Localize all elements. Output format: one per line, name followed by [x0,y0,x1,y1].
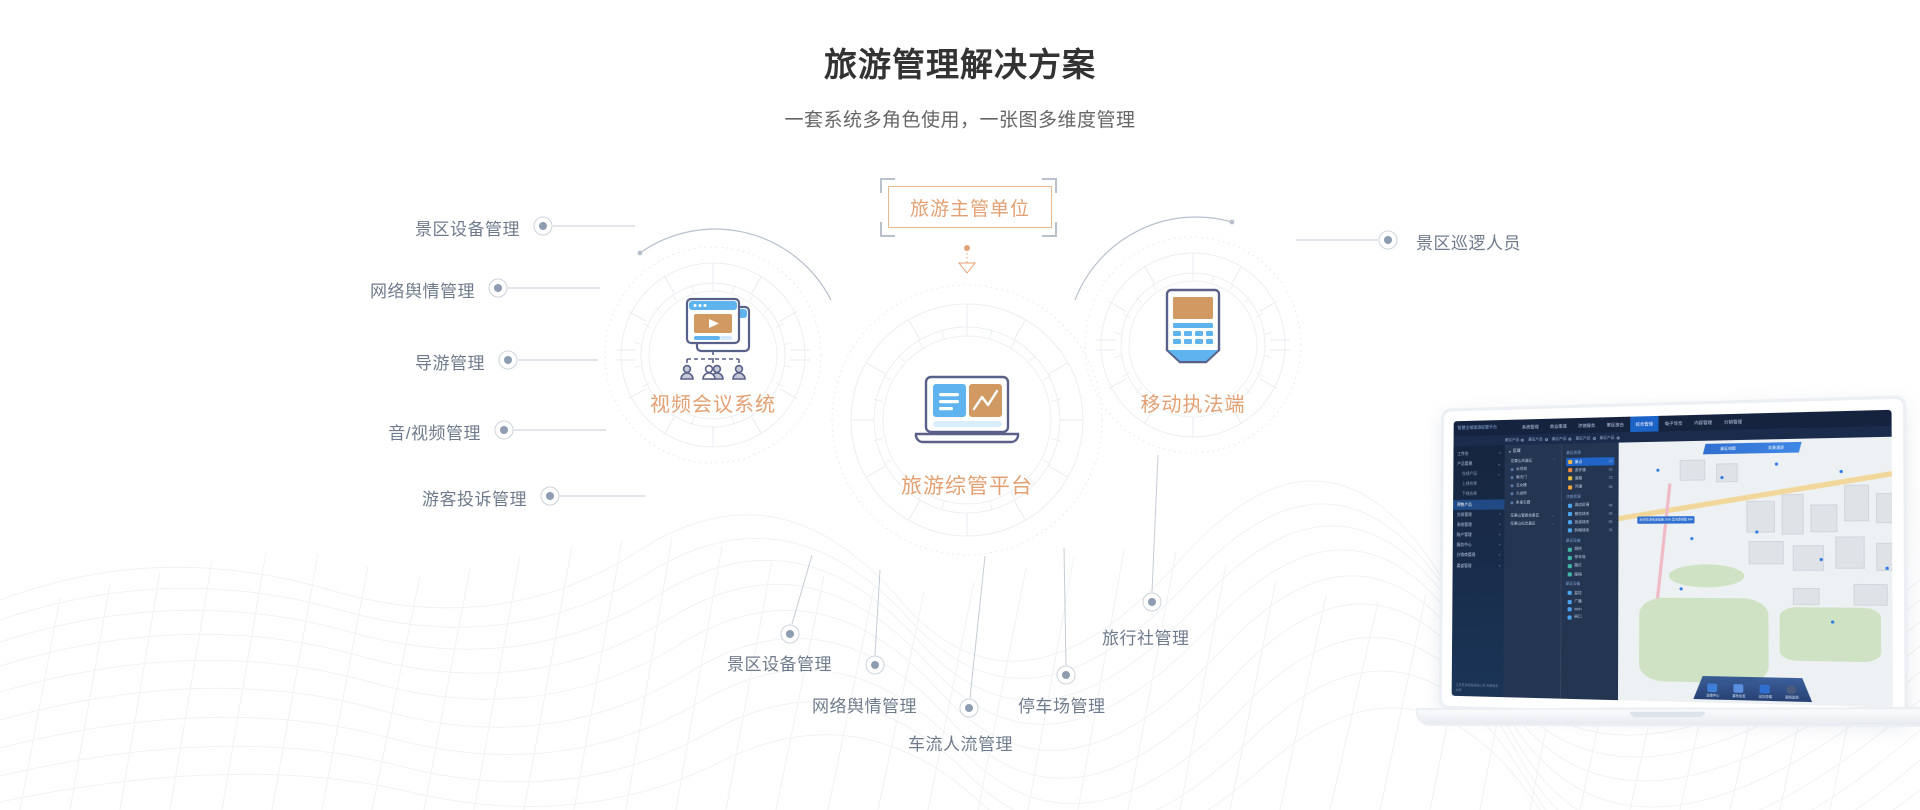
chevron-down-icon: ⌄ [1498,461,1501,466]
laptop-screen: 智慧全域旅游综管平台 系统管理 商业渠道 涉旅服务 景区旅台 综合管理 电子导览… [1452,410,1893,708]
map-building [1876,493,1893,524]
dashboard-menu-item[interactable]: 电子导览 [1659,415,1687,431]
map-pin[interactable] [1831,620,1834,623]
dashboard-body: 工作台› 产品管理⌄ 在线产品⌄ 上线名单 下线名单 预售产品 交易管理› 系统… [1452,437,1893,708]
tree-node[interactable]: 花果山纪念景区⌄ [1508,520,1556,529]
video-window-icon [681,299,749,379]
sidebar-footer: 江苏景通控股有限公司 专属技术支持 [1452,679,1504,698]
layer-item[interactable]: 停车场 [1566,554,1615,562]
map-toolbar-item[interactable]: 实景漫游 [1768,445,1784,451]
dashboard-tab[interactable]: 景区产品 [1576,435,1596,441]
layer-color-swatch [1568,504,1572,508]
map-building [1749,541,1784,564]
close-icon[interactable] [1521,438,1524,441]
handheld-device-icon [1167,290,1219,362]
layer-color-swatch [1568,607,1572,611]
left-node-label-2: 网络舆情管理 [155,277,475,302]
dashboard-menu-item[interactable]: 涉旅服务 [1573,417,1601,433]
layer-item[interactable]: 广播 [1566,597,1615,606]
sidebar-item-label: 上线名单 [1462,482,1477,487]
bottom-node-label-3: 车流人流管理 [908,730,1013,755]
bullet-icon [1510,493,1513,496]
map-building [1793,588,1820,605]
layer-item[interactable]: 座椅 [1566,570,1615,579]
map-building [1810,504,1837,532]
layer-color-swatch [1568,591,1572,595]
layer-item[interactable]: 闸口 [1565,613,1614,622]
layer-color-swatch [1568,512,1572,516]
sidebar-item-label: 渠道管理 [1457,564,1472,569]
layer-item[interactable]: 路灯 [1566,562,1615,570]
dashboard-tab[interactable]: 景区产品 [1505,437,1524,442]
layer-item[interactable]: 道路23 [1566,474,1614,483]
layer-color-swatch [1568,600,1572,604]
chevron-up-icon[interactable]: ⌃ [1552,458,1555,462]
dock-item[interactable]: 舆情监测 [1785,685,1798,699]
sidebar-item[interactable]: 服务中心› [1453,540,1504,550]
dashboard-tab-label: 景区产品 [1576,436,1591,441]
laptop-base [1416,707,1920,727]
map-pin[interactable] [1755,530,1758,533]
layer-color-swatch [1568,564,1572,568]
chevron-right-icon: › [1499,553,1500,558]
hub-label-mobile-enforcement: 移动执法端 [1088,388,1298,417]
layer-group-title: 景区设备 [1566,582,1615,587]
map-dock[interactable]: 运维中心 事件处置 应急管理 舆情监测 [1693,676,1812,702]
layer-group-title: 景区资源 [1566,450,1614,456]
dashboard-menu-item[interactable]: 系统管理 [1517,419,1544,435]
bottom-node-label-1: 景区设备管理 [727,650,832,675]
map-building [1853,584,1887,606]
sidebar-item-label: 系统管理 [1457,523,1472,528]
layer-list-panel[interactable]: 景区资源 景点23 游步道23 道路23 河道56 涉旅资源 酒店民宿45 餐饮… [1560,443,1619,701]
sidebar-item-label: 产品管理 [1457,462,1472,467]
tree-child[interactable]: 朱雀石窟 [1508,498,1556,507]
left-node-label-3: 导游管理 [165,349,485,374]
layer-color-swatch [1568,477,1572,481]
dashboard-menu-item[interactable]: 内容管理 [1689,414,1718,430]
bullet-icon [1511,484,1514,487]
list-icon: ≡ [1509,449,1511,453]
left-node-label-1: 景区设备管理 [200,215,520,240]
layer-color-swatch [1568,460,1572,464]
authority-box[interactable]: 旅游主管单位 [888,186,1052,228]
cube-icon [1734,684,1744,693]
map-building [1746,501,1775,533]
dashboard-menu-item[interactable]: 景区旅台 [1601,417,1629,433]
dashboard-tab-label: 景区产品 [1600,435,1615,440]
sidebar-item-selected[interactable]: 预售产品 [1453,499,1504,510]
region-tree-panel[interactable]: ≡区域 花果山风景区⌃ 水帘洞 南天门 玉女峰 九龙桥 朱雀石窟 花果山管委会景… [1503,444,1561,699]
map-building [1782,494,1804,535]
map-green-area [1669,564,1744,587]
laptop-notch [1630,712,1705,717]
dashboard-tab[interactable]: 景区产品 [1552,436,1572,442]
map-pin[interactable] [1839,470,1842,473]
map-pin[interactable] [1690,537,1693,540]
bottom-node-label-2: 网络舆情管理 [812,692,917,717]
left-connectors [508,226,645,496]
layer-color-swatch [1568,556,1572,560]
hub-label-tourism-platform: 旅游综管平台 [862,470,1072,500]
sidebar-subitem[interactable]: 上线名单 [1453,479,1504,490]
dashboard-sidebar[interactable]: 工作台› 产品管理⌄ 在线产品⌄ 上线名单 下线名单 预售产品 交易管理› 系统… [1452,445,1505,697]
chevron-down-icon[interactable]: ⌄ [1552,522,1555,526]
layer-item[interactable]: 旅游场所55 [1566,518,1614,527]
dashboard-layer-panel[interactable]: ≡区域 花果山风景区⌃ 水帘洞 南天门 玉女峰 九龙桥 朱雀石窟 花果山管委会景… [1503,443,1618,701]
bottom-node-label-5: 旅行社管理 [1102,624,1190,649]
sidebar-item[interactable]: 系统管理› [1453,520,1504,531]
authority-connector [959,245,975,273]
dashboard-app: 智慧全域旅游综管平台 系统管理 商业渠道 涉旅服务 景区旅台 综合管理 电子导览… [1452,410,1893,708]
map-pin[interactable] [1656,469,1659,472]
layer-group-title: 涉旅资源 [1566,494,1614,500]
dashboard-tab[interactable]: 景区产品 [1528,437,1548,442]
sidebar-item-label: 在线产品 [1462,472,1477,477]
laptop-dashboard-icon [916,377,1018,442]
map-green-area [1780,607,1882,662]
map-pin[interactable] [1885,567,1888,570]
chevron-right-icon: › [1499,543,1500,548]
map-pin[interactable] [1720,476,1723,479]
layer-color-swatch [1568,529,1572,533]
dock-item[interactable]: 应急管理 [1759,685,1772,699]
layer-color-swatch [1568,547,1572,551]
bullet-icon [1510,501,1513,504]
layer-item[interactable]: 餐饮场所39 [1566,509,1614,518]
right-node-label-1: 景区巡逻人员 [1416,229,1521,254]
map-building [1716,463,1738,482]
close-icon[interactable] [1592,436,1595,439]
chevron-down-icon[interactable]: ⌄ [1552,513,1555,517]
cube-icon [1760,685,1770,694]
layer-color-swatch [1568,615,1572,619]
dock-item[interactable]: 运维中心 [1706,683,1719,697]
layer-item[interactable]: 购物场所76 [1566,526,1614,535]
dashboard-tab[interactable]: 景区产品 [1600,435,1620,441]
layer-group-title: 景区设施 [1566,538,1614,543]
map-canvas[interactable]: 水帘洞 游客承载量 2000 实时游客数 834 景区地图 实景漫游 运维中心 … [1618,437,1893,708]
sidebar-item-label: 下线名单 [1462,492,1477,497]
layer-item[interactable]: 河道56 [1566,482,1614,491]
dashboard-menu-item[interactable]: 商业渠道 [1545,418,1572,434]
map-building [1680,460,1706,481]
sidebar-item-label: 交易管理 [1457,513,1472,518]
sidebar-item[interactable]: 渠道管理› [1453,561,1504,571]
sidebar-item[interactable]: 交易管理› [1453,510,1504,521]
chevron-right-icon: › [1499,564,1500,569]
sidebar-item-label: 预售产品 [1457,502,1472,507]
dock-item[interactable]: 事件处置 [1732,684,1745,698]
hub-label-video-conference: 视频会议系统 [608,388,818,417]
layer-item[interactable]: 厕所 [1566,545,1614,553]
sidebar-item[interactable]: 账户管理› [1453,530,1504,540]
region-tree-title: ≡区域 [1509,448,1557,454]
map-toolbar[interactable]: 景区地图 实景漫游 [1703,442,1802,454]
map-toolbar-item[interactable]: 景区地图 [1720,446,1736,452]
dashboard-logo: 智慧全域旅游综管平台 [1454,425,1517,431]
sidebar-item[interactable]: 分销商管理› [1453,551,1504,561]
right-connector-dots [1379,231,1397,249]
map-building [1844,485,1869,522]
left-node-label-4: 音/视频管理 [161,419,481,444]
solution-diagram-page: 旅游管理解决方案 一套系统多角色使用，一张图多维度管理 [0,0,1920,810]
chevron-right-icon: › [1499,533,1500,538]
sidebar-item-label: 服务中心 [1457,543,1472,548]
map-callout: 水帘洞 游客承载量 2000 实时游客数 834 [1637,516,1695,523]
left-connector-dots [489,217,559,505]
layer-color-swatch [1568,520,1572,524]
layer-color-swatch [1568,468,1572,472]
map-pin[interactable] [1775,462,1778,465]
layer-color-swatch [1568,485,1572,489]
laptop-mockup: 智慧全域旅游综管平台 系统管理 商业渠道 涉旅服务 景区旅台 综合管理 电子导览… [1410,408,1910,768]
laptop-screen-frame: 智慧全域旅游综管平台 系统管理 商业渠道 涉旅服务 景区旅台 综合管理 电子导览… [1439,395,1908,722]
tree-child[interactable]: 南天门 [1509,473,1557,482]
dashboard-menu-item-active[interactable]: 综合管理 [1630,416,1658,432]
close-icon[interactable] [1545,438,1548,441]
chevron-right-icon: › [1499,523,1500,528]
sidebar-item-label: 分销商管理 [1457,553,1476,558]
dashboard-tab-label: 景区产品 [1505,437,1519,442]
left-node-label-5: 游客投诉管理 [207,485,527,510]
ring-icon [1787,685,1797,694]
map-building [1835,536,1865,568]
layer-item[interactable]: 监控 [1566,589,1615,598]
bullet-icon [1511,476,1514,479]
layer-color-swatch [1568,573,1572,577]
dashboard-menu-item[interactable]: 分销管理 [1719,414,1748,430]
map-pin[interactable] [1820,558,1823,561]
map-pin[interactable] [1679,587,1682,590]
sidebar-subitem[interactable]: 下线名单 [1453,489,1504,500]
chevron-down-icon: ⌄ [1497,471,1500,476]
tree-child[interactable]: 玉女峰 [1509,481,1557,490]
cube-icon [1708,684,1718,693]
dashboard-tab-label: 景区产品 [1552,436,1567,441]
close-icon[interactable] [1617,436,1620,439]
chevron-right-icon: › [1499,512,1500,517]
bullet-icon [1511,468,1514,471]
bottom-node-label-4: 停车场管理 [1018,692,1106,717]
sidebar-item-label: 账户管理 [1457,533,1472,538]
map-pin[interactable] [1892,484,1893,487]
sidebar-item-label: 工作台 [1457,451,1468,456]
close-icon[interactable] [1568,437,1571,440]
dashboard-tab-label: 景区产品 [1528,437,1543,442]
chevron-right-icon: › [1499,451,1500,456]
map-green-area [1639,597,1769,683]
